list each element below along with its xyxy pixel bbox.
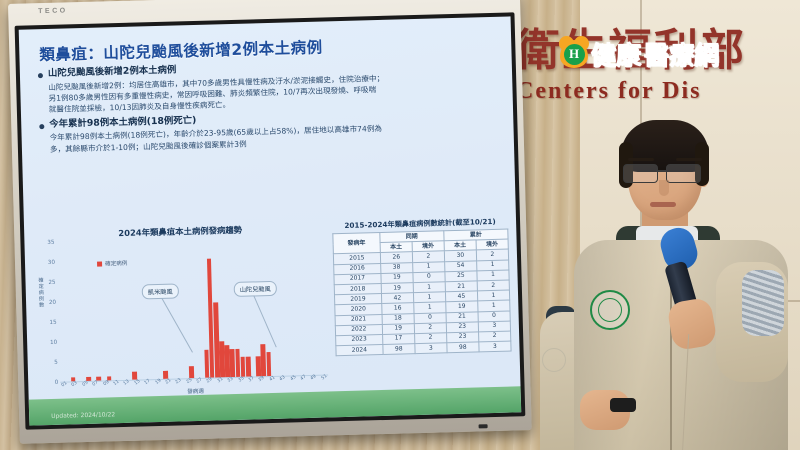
display-brand-label: TECO	[38, 7, 68, 15]
eyeglass-lens-right	[666, 164, 701, 183]
watermark-text-green: 健康	[591, 36, 641, 72]
speaker-nose	[659, 180, 669, 196]
chart-y-tick: 10	[43, 340, 57, 346]
chart-y-tick: 15	[43, 320, 57, 326]
chart-annotation-krathon: 山陀兒颱風	[234, 281, 277, 297]
slide-content: 類鼻疽：山陀兒颱風後新增2例本土病例 山陀兒颱風後新增2例本土病例 山陀兒颱風後…	[19, 16, 522, 425]
chart-y-tick: 35	[40, 240, 54, 246]
legend-label: 確定病例	[105, 259, 128, 268]
table-cell: 3	[479, 341, 511, 352]
table-cell: 98	[383, 344, 415, 355]
speaker-figure	[566, 122, 800, 450]
chart-y-tick: 30	[41, 260, 55, 266]
watermark-text-orange: 醫療網	[644, 36, 719, 72]
bullet-dot-icon	[38, 73, 43, 78]
presentation-display: TECO 類鼻疽：山陀兒颱風後新增2例本土病例 山陀兒颱風後新增2例本土病例 山…	[8, 0, 532, 444]
presentation-clicker	[610, 398, 636, 412]
epidemic-curve-chart: 2024年類鼻疽本土病例發病趨勢 確定病例數 05101520253035 確定…	[34, 221, 330, 399]
chart-y-tick: 0	[44, 380, 58, 386]
table-header-year: 發病年	[333, 233, 380, 255]
table-cell: 3	[415, 343, 447, 354]
chart-plot-area: 確定病例數 05101520253035 確定病例 凱米颱風 山陀兒颱風	[56, 236, 328, 383]
screenshot-root: 衛生福利部 Centers for Dis H 健康 醫療網 TECO 類鼻疽：…	[0, 0, 800, 450]
chart-bar	[213, 302, 220, 378]
heart-plus-logo-icon: H	[560, 40, 588, 68]
chart-bar	[266, 352, 271, 376]
eyeglass-lens-left	[623, 164, 658, 183]
chart-bars	[56, 236, 328, 382]
table-cell: 2024	[336, 345, 383, 356]
chart-y-tick: 25	[41, 280, 55, 286]
chart-bar	[132, 372, 137, 380]
speaker-eyebrow-right	[676, 158, 702, 161]
bullet-dot-icon	[39, 124, 44, 129]
speaker-shirt-sleeve	[742, 270, 784, 336]
health-media-watermark: H 健康 醫療網	[560, 36, 719, 72]
person-emblem-icon	[542, 348, 566, 372]
display-screen: 類鼻疽：山陀兒颱風後新增2例本土病例 山陀兒颱風後新增2例本土病例 山陀兒颱風後…	[19, 16, 522, 425]
slide-bullets: 山陀兒颱風後新增2例本土病例 山陀兒颱風後新增2例：均居住高雄市，其中70多歲男…	[38, 56, 500, 155]
cdc-emblem-icon	[590, 290, 630, 330]
statistics-table: 發病年 同期 累計 本土 境外 本土 境外	[332, 229, 511, 357]
legend-swatch-icon	[97, 261, 102, 266]
display-frame: 類鼻疽：山陀兒颱風後新增2例本土病例 山陀兒颱風後新增2例本土病例 山陀兒颱風後…	[15, 12, 526, 429]
chart-annotation-gaemi: 凱米颱風	[142, 283, 179, 299]
logo-mark: H	[564, 44, 585, 65]
case-statistics-table: 2015-2024年類鼻疽病例數統計(截至10/21) 發病年 同期 累計	[332, 217, 513, 392]
chart-y-tick: 5	[44, 360, 58, 366]
chart-bar	[246, 357, 251, 377]
table-body: 2015262302201638154120171902512018191212…	[333, 249, 511, 356]
table-cell: 98	[447, 342, 479, 353]
speaker-mouth	[650, 202, 676, 207]
chart-bar	[163, 371, 168, 379]
chart-legend: 確定病例	[97, 259, 128, 268]
slide-figures: 2024年類鼻疽本土病例發病趨勢 確定病例數 05101520253035 確定…	[34, 217, 512, 400]
eyeglass-bridge	[656, 170, 666, 172]
speaker-eyebrow-left	[628, 158, 654, 161]
display-ir-sensor	[479, 424, 488, 428]
chart-y-tick: 20	[42, 300, 56, 306]
